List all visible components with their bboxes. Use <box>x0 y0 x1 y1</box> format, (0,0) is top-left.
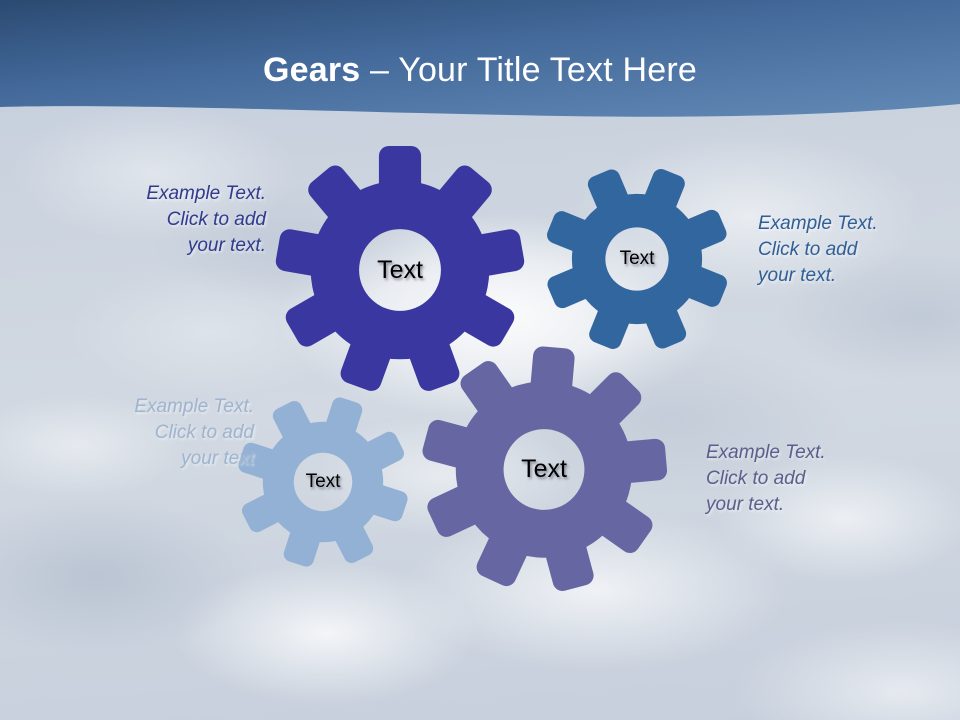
gear-light-blue[interactable]: Text <box>228 396 418 568</box>
gear-purple-slate[interactable]: Text <box>418 347 670 592</box>
slide-canvas: Gears – Your Title Text Here Tex <box>0 0 960 720</box>
title-rest: Your Title Text Here <box>398 51 697 89</box>
caption-bottom-left[interactable]: Example Text. Click to add your text <box>58 394 254 472</box>
caption-bottom-right[interactable]: Example Text. Click to add your text. <box>706 440 902 518</box>
page-title: Gears – Your Title Text Here <box>0 48 960 92</box>
gear-steel-blue[interactable]: Text <box>540 166 734 352</box>
title-separator: – <box>360 51 398 89</box>
caption-top-right[interactable]: Example Text. Click to add your text. <box>758 211 954 289</box>
title-bold-part: Gears <box>263 51 360 89</box>
caption-top-left[interactable]: Example Text. Click to add your text. <box>70 181 266 259</box>
